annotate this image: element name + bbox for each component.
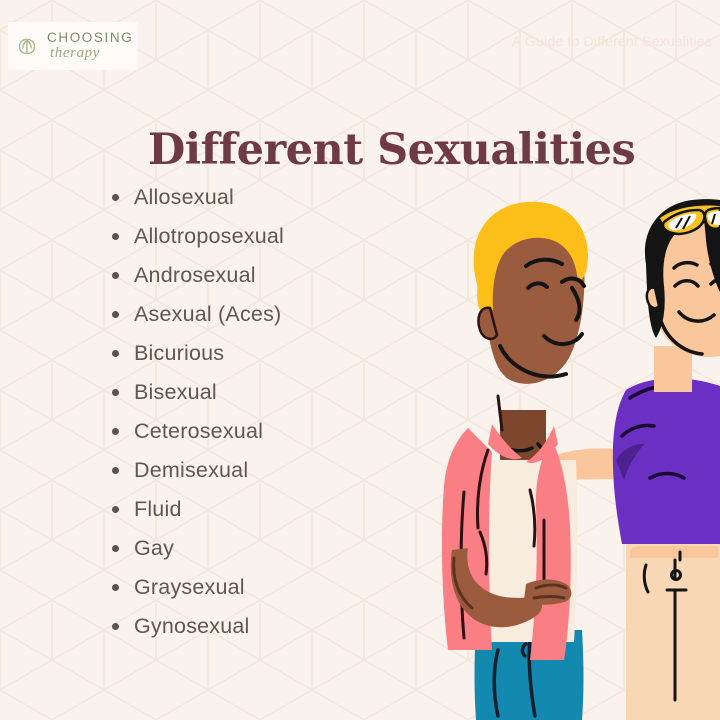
list-item-label: Gay — [134, 536, 174, 561]
list-item-label: Demisexual — [134, 458, 248, 483]
header-caption: A Guide to Different Sexualities — [512, 33, 712, 49]
bullet-icon — [112, 545, 119, 552]
list-item: Bisexual — [112, 373, 284, 412]
list-item: Fluid — [112, 490, 284, 529]
logo-title: CHOOSING — [47, 31, 133, 45]
bullet-icon — [112, 194, 119, 201]
bullet-icon — [112, 272, 119, 279]
bullet-icon — [112, 233, 119, 240]
bullet-icon — [112, 389, 119, 396]
list-item-label: Bicurious — [134, 341, 224, 366]
leaf-lotus-icon — [12, 31, 42, 61]
list-item: Androsexual — [112, 256, 284, 295]
list-item-label: Androsexual — [134, 263, 256, 288]
bullet-icon — [112, 506, 119, 513]
list-item: Allotroposexual — [112, 217, 284, 256]
list-item-label: Graysexual — [134, 575, 245, 600]
list-item-label: Asexual (Aces) — [134, 302, 281, 327]
list-item-label: Bisexual — [134, 380, 217, 405]
list-item-label: Ceterosexual — [134, 419, 263, 444]
bullet-icon — [112, 311, 119, 318]
bullet-icon — [112, 428, 119, 435]
list-item: Graysexual — [112, 568, 284, 607]
list-item: Gay — [112, 529, 284, 568]
brand-logo[interactable]: CHOOSING therapy — [8, 22, 138, 70]
bullet-icon — [112, 350, 119, 357]
logo-wordmark: CHOOSING therapy — [47, 31, 133, 62]
list-item: Demisexual — [112, 451, 284, 490]
bullet-icon — [112, 623, 119, 630]
infographic-poster: CHOOSING therapy A Guide to Different Se… — [0, 0, 720, 720]
logo-subtitle: therapy — [50, 46, 133, 61]
list-item-label: Allosexual — [134, 185, 234, 210]
list-item: Ceterosexual — [112, 412, 284, 451]
sexualities-list: Allosexual Allotroposexual Androsexual A… — [112, 178, 284, 646]
list-item-label: Fluid — [134, 497, 182, 522]
list-item-label: Allotroposexual — [134, 224, 284, 249]
list-item: Asexual (Aces) — [112, 295, 284, 334]
bullet-icon — [112, 584, 119, 591]
list-item-label: Gynosexual — [134, 614, 250, 639]
person-left — [442, 202, 588, 720]
bullet-icon — [112, 467, 119, 474]
list-item: Gynosexual — [112, 607, 284, 646]
list-item: Bicurious — [112, 334, 284, 373]
list-item: Allosexual — [112, 178, 284, 217]
couple-illustration — [330, 160, 720, 720]
